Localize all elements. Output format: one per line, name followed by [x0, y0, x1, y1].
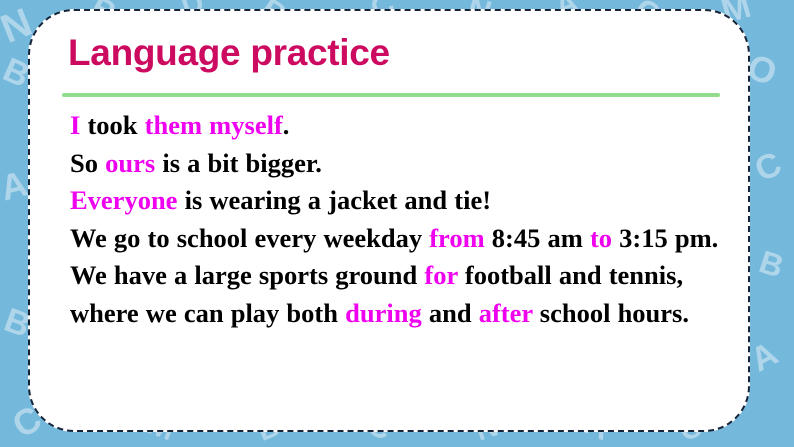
sentence-5: We have a large sports ground for footba… [70, 257, 730, 332]
highlighted-phrase: ours [105, 148, 155, 178]
highlighted-phrase: Everyone [70, 185, 177, 215]
sentence-text: and [422, 298, 479, 328]
title-divider [62, 93, 720, 97]
sentence-text: 8:45 am [485, 223, 590, 253]
sentence-1: I took them myself. [70, 107, 730, 145]
sentence-text: is wearing a jacket and tie! [177, 185, 491, 215]
background-letter: A [0, 165, 31, 206]
content-card: Language practice I took them myself.So … [28, 9, 750, 432]
sentence-4: We go to school every weekday from 8:45 … [70, 220, 730, 258]
page-title: Language practice [68, 34, 390, 73]
sentence-text: We have a large sports ground [70, 260, 424, 290]
content-card-inner: Language practice I took them myself.So … [30, 11, 748, 430]
background-letter: B [756, 245, 788, 283]
highlighted-phrase: I [70, 110, 80, 140]
highlighted-phrase: them myself [145, 110, 283, 140]
highlighted-phrase: for [424, 260, 457, 290]
background-letter: A [745, 336, 783, 378]
sentence-text: . [283, 110, 290, 140]
sentence-3: Everyone is wearing a jacket and tie! [70, 182, 730, 220]
highlighted-phrase: from [429, 223, 484, 253]
sentence-text: is a bit bigger. [155, 148, 322, 178]
sentence-text: 3:15 pm. [612, 223, 718, 253]
background-letter: C [750, 146, 786, 187]
highlighted-phrase: to [590, 223, 612, 253]
highlighted-phrase: during [345, 298, 422, 328]
language-practice-sentences: I took them myself.So ours is a bit bigg… [70, 107, 730, 332]
sentence-2: So ours is a bit bigger. [70, 145, 730, 183]
sentence-text: We go to school every weekday [70, 223, 429, 253]
slide-root: NBABCBDBCNACMOCBAMBCNAO Language practic… [0, 0, 794, 447]
sentence-text: took [80, 110, 144, 140]
highlighted-phrase: after [479, 298, 533, 328]
sentence-text: school hours. [533, 298, 689, 328]
sentence-text: So [70, 148, 105, 178]
